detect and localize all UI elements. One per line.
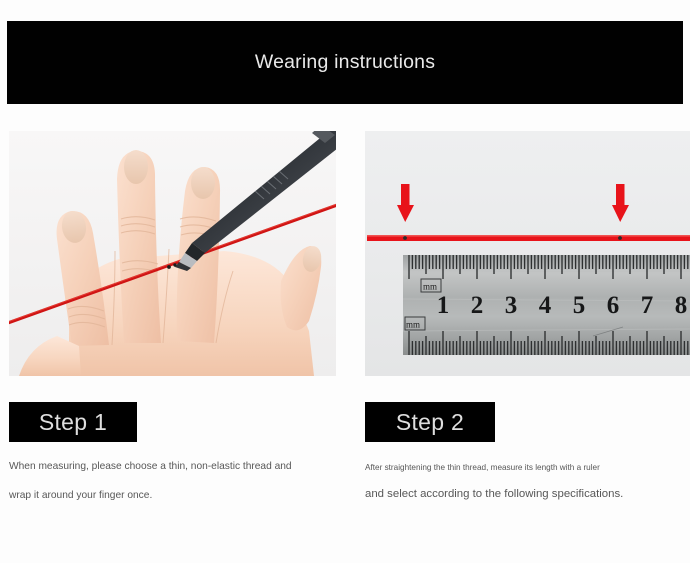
step-2-badge: Step 2	[365, 402, 495, 442]
step-2-description-line-2: and select according to the following sp…	[365, 487, 623, 501]
step-2-description-line-1: After straightening the thin thread, mea…	[365, 463, 600, 473]
step-2-column: mm mm 1 2 3 4 5 6 7 8	[365, 131, 690, 376]
svg-text:7: 7	[641, 292, 654, 319]
page-title: Wearing instructions	[255, 53, 435, 73]
svg-text:mm: mm	[423, 282, 437, 292]
steel-ruler-graphic: mm mm 1 2 3 4 5 6 7 8	[403, 255, 690, 355]
svg-text:4: 4	[539, 292, 552, 319]
step-1-badge: Step 1	[9, 402, 137, 442]
hand-photo-graphic	[9, 131, 336, 376]
svg-text:1: 1	[437, 292, 450, 319]
svg-text:mm: mm	[406, 320, 420, 330]
hand-with-thread-and-pen-photo	[9, 131, 336, 376]
svg-text:6: 6	[607, 292, 620, 319]
ruler-measuring-thread-photo: mm mm 1 2 3 4 5 6 7 8	[365, 131, 690, 376]
step-2-label: Step 2	[396, 411, 464, 434]
step-1-column	[9, 131, 336, 376]
svg-text:8: 8	[675, 292, 688, 319]
svg-text:3: 3	[505, 292, 518, 319]
step-1-label: Step 1	[39, 411, 107, 434]
step-1-description-line-2: wrap it around your finger once.	[9, 490, 152, 503]
instruction-page: Wearing instructions	[0, 0, 690, 563]
ruler-photo-graphic: mm mm 1 2 3 4 5 6 7 8	[365, 131, 690, 376]
svg-text:2: 2	[471, 292, 484, 319]
step-1-description-line-1: When measuring, please choose a thin, no…	[9, 461, 292, 474]
svg-text:5: 5	[573, 292, 586, 319]
header-banner: Wearing instructions	[7, 21, 683, 104]
